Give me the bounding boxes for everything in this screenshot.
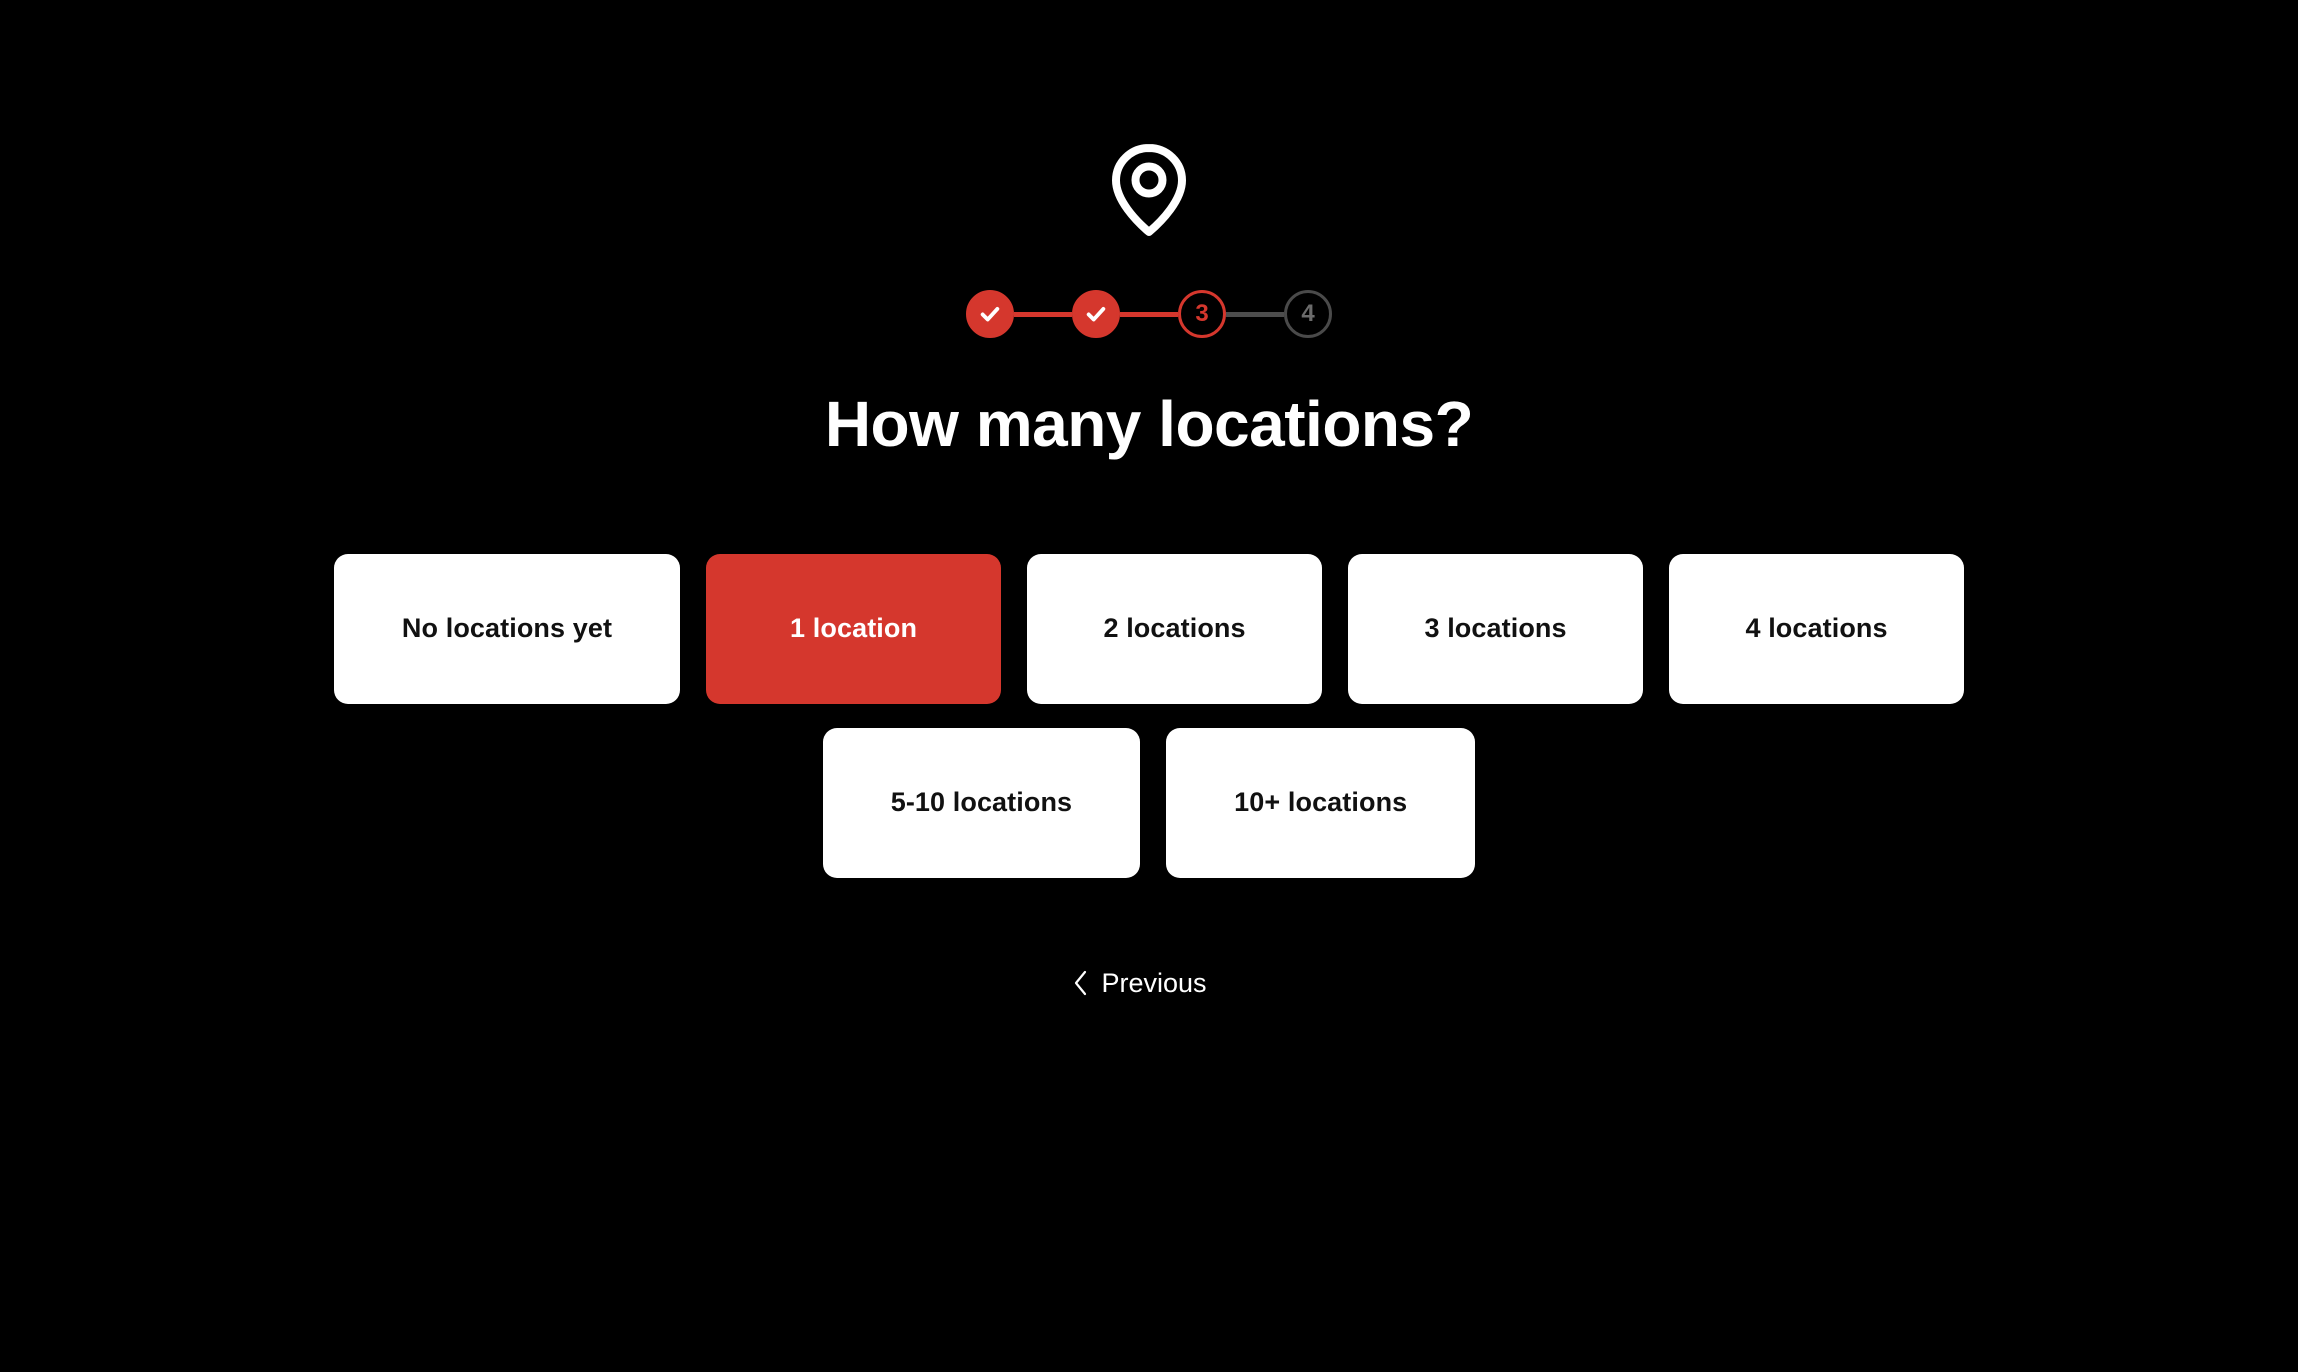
stepper-connector-2-3 [1120,312,1178,317]
onboarding-screen: 3 4 How many locations? No locations yet… [0,0,2298,1372]
option-10-plus-locations[interactable]: 10+ locations [1166,728,1475,878]
option-1-location[interactable]: 1 location [706,554,1001,704]
stepper-step-3-label: 3 [1195,302,1208,326]
previous-button-label: Previous [1101,968,1206,999]
stepper-step-1[interactable] [966,290,1014,338]
progress-stepper: 3 4 [966,288,1332,340]
option-3-locations[interactable]: 3 locations [1348,554,1643,704]
previous-button[interactable]: Previous [1059,960,1220,1007]
chevron-left-icon [1073,970,1089,996]
options-grid: No locations yet 1 location 2 locations … [189,554,2109,878]
option-4-locations[interactable]: 4 locations [1669,554,1964,704]
stepper-connector-1-2 [1014,312,1072,317]
option-no-locations-yet[interactable]: No locations yet [334,554,680,704]
stepper-step-3[interactable]: 3 [1178,290,1226,338]
stepper-connector-3-4 [1226,312,1284,317]
check-icon [1085,303,1107,325]
map-pin-icon [1104,140,1194,240]
check-icon [979,303,1001,325]
stepper-step-4-label: 4 [1301,302,1314,326]
stepper-step-2[interactable] [1072,290,1120,338]
option-2-locations[interactable]: 2 locations [1027,554,1322,704]
page-title: How many locations? [825,388,1473,462]
option-5-10-locations[interactable]: 5-10 locations [823,728,1140,878]
navigation-row: Previous [189,960,2109,1007]
stepper-step-4[interactable]: 4 [1284,290,1332,338]
